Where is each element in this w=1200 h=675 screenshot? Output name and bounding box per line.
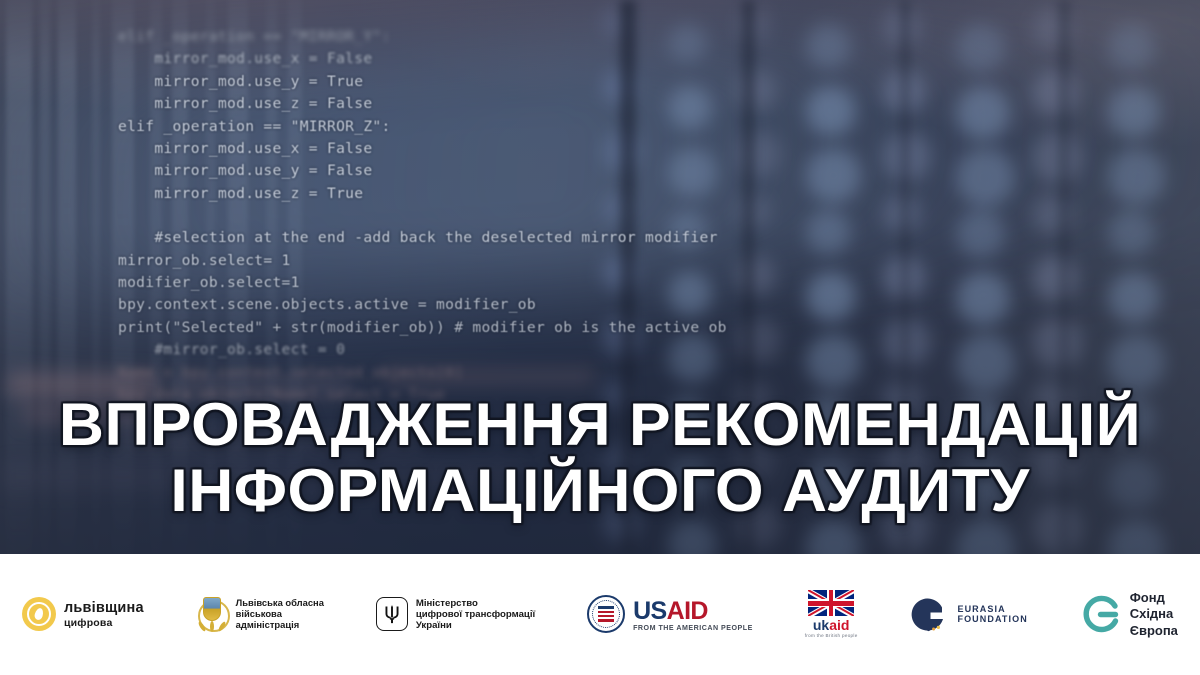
usaid-text: USAID FROM THE AMERICAN PEOPLE xyxy=(633,597,753,632)
usaid-word-1: US xyxy=(633,597,667,626)
logo-eurasia-foundation: EURASIA FOUNDATION xyxy=(909,594,1027,634)
mdt-line-2: цифрової трансформації xyxy=(416,609,535,620)
hero-background: elif _operation == "MIRROR_Y": mirror_mo… xyxy=(0,0,1200,554)
ukaid-word-1: uk xyxy=(813,617,829,633)
lvivshchyna-line-1: львівщина xyxy=(64,600,144,617)
eurasia-text: EURASIA FOUNDATION xyxy=(957,604,1027,625)
coat-of-arms-icon xyxy=(196,594,228,634)
title-line-2: ІНФОРМАЦІЙНОГО АУДИТУ xyxy=(0,458,1200,524)
lova-text: Львівська обласна військова адміністраці… xyxy=(236,598,324,631)
fse-e-icon xyxy=(1080,593,1122,635)
eurasia-e-icon xyxy=(909,594,949,634)
usaid-tagline: FROM THE AMERICAN PEOPLE xyxy=(633,624,753,632)
lvivshchyna-emblem-icon xyxy=(22,597,56,631)
logo-fond-skhidna-yevropa: Фонд Східна Європа xyxy=(1080,590,1178,638)
logo-usaid: USAID FROM THE AMERICAN PEOPLE xyxy=(587,595,753,633)
mdt-text: Міністерство цифрової трансформації Укра… xyxy=(416,598,535,631)
fse-line-2: Східна xyxy=(1130,606,1178,622)
title-line-1: ВПРОВАДЖЕННЯ РЕКОМЕНДАЦІЙ xyxy=(0,392,1200,458)
mdt-line-1: Міністерство xyxy=(416,598,535,609)
tryzub-icon xyxy=(376,597,408,631)
logo-lviv-military-administration: Львівська обласна військова адміністраці… xyxy=(196,594,324,634)
presentation-slide: elif _operation == "MIRROR_Y": mirror_mo… xyxy=(0,0,1200,675)
tryzub-glyph xyxy=(384,605,399,624)
lvivshchyna-text: львівщина цифрова xyxy=(64,600,144,629)
footer-logo-bar: львівщина цифрова Львівська обласна війс… xyxy=(0,554,1200,675)
fse-line-3: Європа xyxy=(1130,623,1178,639)
union-jack-icon xyxy=(808,590,854,616)
lova-line-3: адміністрація xyxy=(236,620,324,631)
ukaid-word-2: aid xyxy=(829,617,849,633)
logo-row: львівщина цифрова Львівська обласна війс… xyxy=(0,590,1200,638)
ukaid-tagline: from the British people xyxy=(805,633,858,638)
lvivshchyna-line-2: цифрова xyxy=(64,617,144,629)
usaid-seal-icon xyxy=(587,595,625,633)
fse-text: Фонд Східна Європа xyxy=(1130,590,1178,638)
eurasia-line-2: FOUNDATION xyxy=(957,614,1027,624)
slide-title: ВПРОВАДЖЕННЯ РЕКОМЕНДАЦІЙ ІНФОРМАЦІЙНОГО… xyxy=(0,392,1200,524)
logo-ministry-digital-transformation: Міністерство цифрової трансформації Укра… xyxy=(376,597,535,631)
logo-ukaid: ukaid from the British people xyxy=(805,590,858,638)
fse-line-1: Фонд xyxy=(1130,590,1178,606)
usaid-word-2: AID xyxy=(667,597,708,626)
ukaid-wordmark: ukaid xyxy=(805,617,858,633)
eurasia-line-1: EURASIA xyxy=(957,604,1027,614)
mdt-line-3: України xyxy=(416,620,535,631)
logo-lvivshchyna-digital: львівщина цифрова xyxy=(22,597,144,631)
